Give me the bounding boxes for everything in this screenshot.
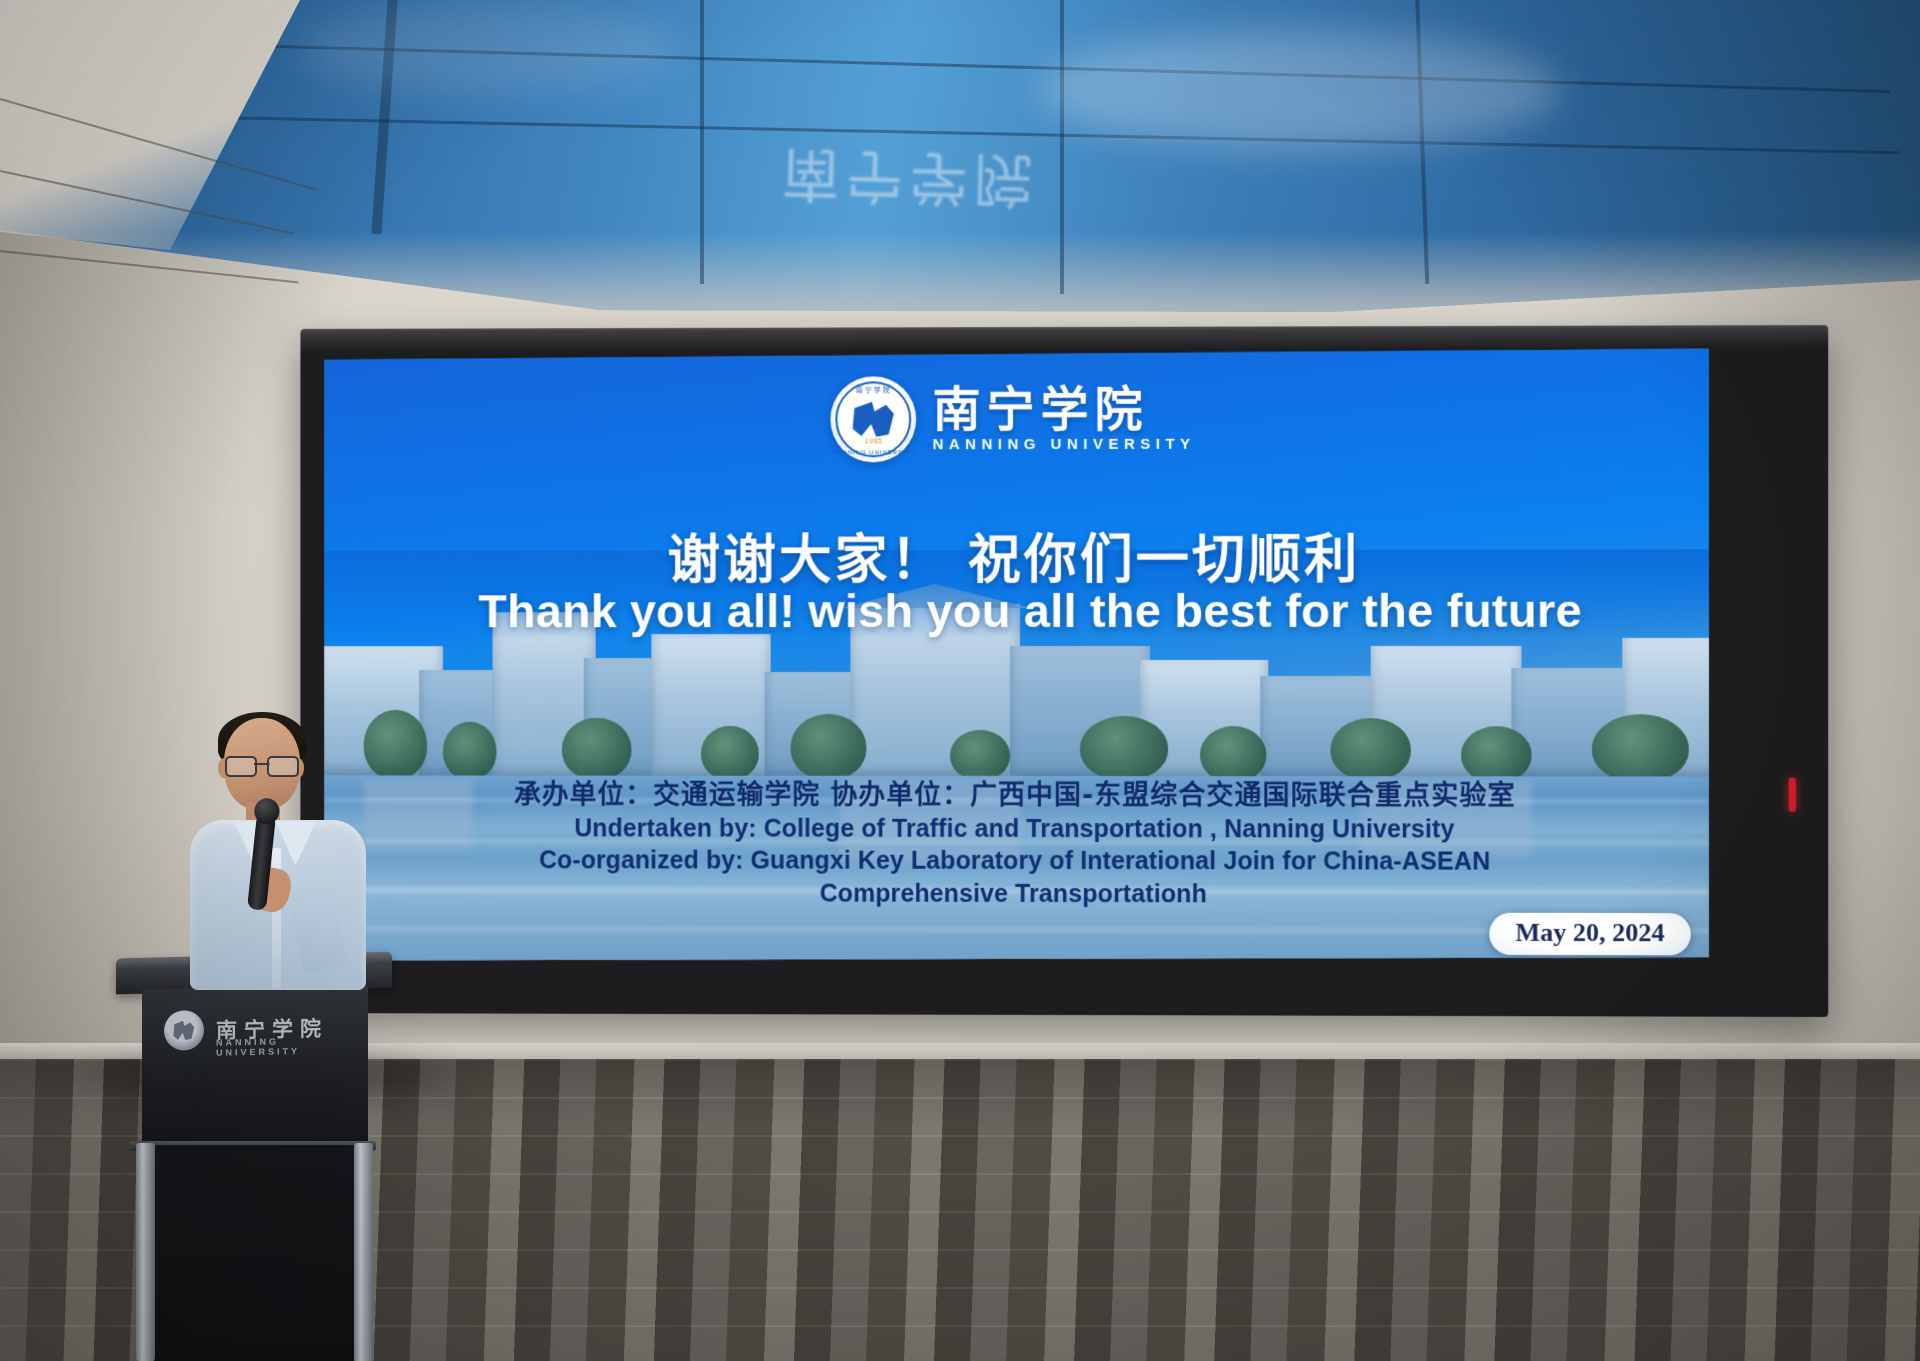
organizers-chinese: 承办单位：交通运输学院 协办单位：广西中国-东盟综合交通国际联合重点实验室 (364, 778, 1669, 813)
lectern: 南宁学院 NANNING UNIVERSITY (116, 955, 392, 1361)
ceiling-logo-reflection: 南宁学院 (699, 108, 1122, 230)
lectern-logo-english: NANNING UNIVERSITY (216, 1035, 368, 1058)
lectern-leg (354, 1143, 373, 1361)
presentation-display[interactable]: 南宁学院 1985 NANNING UNIVERSITY 南宁学院 NANNIN… (300, 325, 1828, 1017)
organizers-english-line-1: Undertaken by: College of Traffic and Tr… (364, 812, 1669, 846)
lectern-leg (136, 1143, 155, 1361)
crest-ring-text: NANNING UNIVERSITY (831, 450, 917, 456)
organizers-english-line-2: Co-organized by: Guangxi Key Laboratory … (364, 844, 1669, 878)
slide-content: 南宁学院 1985 NANNING UNIVERSITY 南宁学院 NANNIN… (324, 348, 1709, 963)
wordmark-english: NANNING UNIVERSITY (933, 435, 1196, 452)
university-crest-icon: 南宁学院 1985 NANNING UNIVERSITY (831, 376, 917, 462)
crest-top-text: 南宁学院 (831, 385, 917, 395)
organizers-english-line-3: Comprehensive Transportationh (364, 876, 1669, 911)
wordmark-chinese: 南宁学院 (933, 385, 1196, 434)
lectern-front-panel: 南宁学院 NANNING UNIVERSITY (142, 985, 368, 1149)
slide-screen[interactable]: 南宁学院 1985 NANNING UNIVERSITY 南宁学院 NANNIN… (324, 348, 1709, 963)
power-led-icon (1789, 778, 1796, 812)
crest-emblem-icon (852, 399, 896, 439)
bezel-sheen (300, 325, 1828, 353)
presenter (196, 718, 356, 978)
glasses-lens (225, 756, 257, 777)
slide-date-badge: May 20, 2024 (1489, 913, 1691, 956)
lectern-crest-icon (164, 1010, 204, 1051)
glasses-lens (267, 756, 299, 777)
university-wordmark: 南宁学院 NANNING UNIVERSITY (933, 385, 1196, 452)
crest-year: 1985 (831, 438, 917, 445)
scene-root: 南宁学院 (0, 0, 1920, 1361)
lectern-lower-body (154, 1145, 354, 1361)
ceiling-highlight (300, 4, 680, 94)
slide-logo: 南宁学院 1985 NANNING UNIVERSITY 南宁学院 NANNIN… (324, 375, 1709, 464)
slide-organizers: 承办单位：交通运输学院 协办单位：广西中国-东盟综合交通国际联合重点实验室 Un… (364, 778, 1669, 911)
presenter-glasses (224, 756, 300, 774)
slide-headline-english: Thank you all! wish you all the best for… (413, 582, 1648, 640)
